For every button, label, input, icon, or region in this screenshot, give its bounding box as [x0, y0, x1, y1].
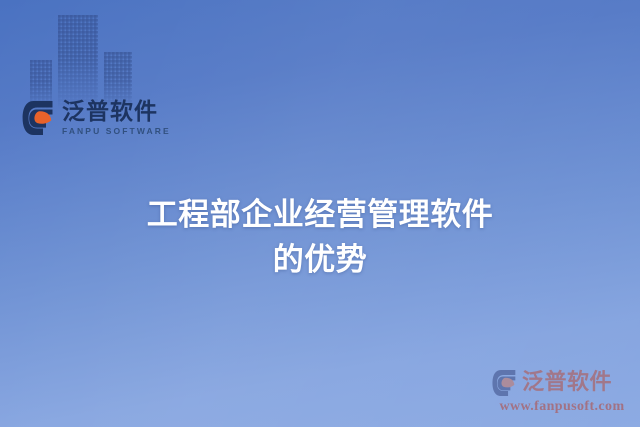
brand-wordmark: 泛普软件 FANPU SOFTWARE: [62, 101, 171, 136]
watermark-url: www.fanpusoft.com: [492, 399, 632, 415]
pixel-tower-middle: [58, 15, 98, 110]
brand-name-cn: 泛普软件: [62, 101, 171, 124]
brand-logo: 泛普软件 FANPU SOFTWARE: [22, 100, 171, 136]
fanpu-logo-mark-icon: [22, 100, 56, 136]
promo-banner: 泛普软件 FANPU SOFTWARE 工程部企业经营管理软件 的优势 泛普软件…: [0, 0, 640, 427]
brand-name-en: FANPU SOFTWARE: [62, 127, 171, 136]
watermark: 泛普软件 www.fanpusoft.com: [492, 369, 632, 415]
page-title: 工程部企业经营管理软件 的优势: [0, 193, 640, 283]
fanpu-logo-mark-watermark-icon: [492, 369, 518, 397]
page-title-line-2: 的优势: [0, 238, 640, 283]
watermark-logo-row: 泛普软件: [492, 369, 632, 397]
page-title-line-1: 工程部企业经营管理软件: [0, 193, 640, 238]
watermark-brand-name: 泛普软件: [522, 372, 612, 394]
pixel-towers-decoration: [30, 14, 145, 110]
